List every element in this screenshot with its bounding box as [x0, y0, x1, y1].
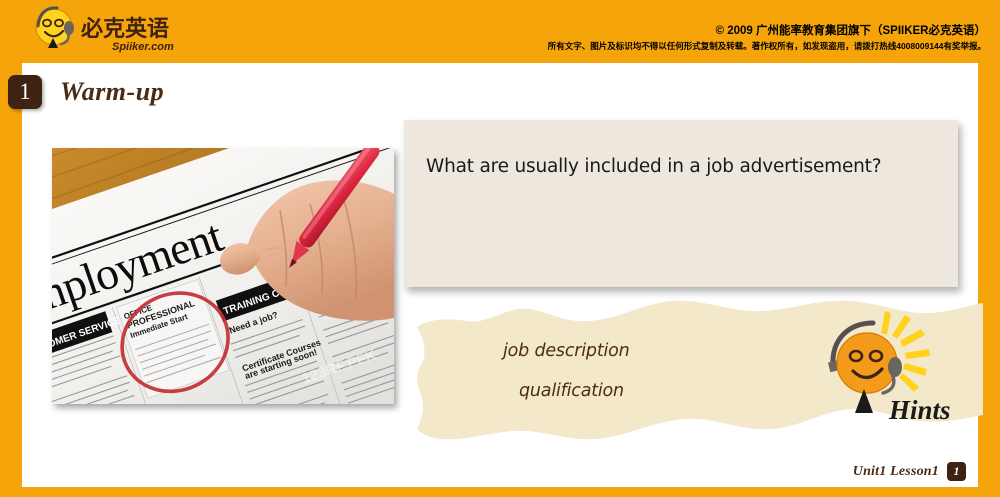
- page-title: Warm-up: [60, 77, 164, 107]
- copyright-line-2: 所有文字、图片及标识均不得以任何形式复制及转载。著作权所有，如发现盗用，请拨打热…: [466, 41, 986, 52]
- header-bar: 必克英语 Spiiker.com © 2009 广州能率教育集团旗下（SPIIK…: [0, 0, 1000, 63]
- employment-newspaper-photo: Employment: [52, 148, 394, 404]
- footer: Unit1 Lesson1 1: [853, 462, 966, 481]
- page-number-badge: 1: [947, 462, 966, 481]
- question-card: What are usually included in a job adver…: [404, 120, 958, 287]
- slide-canvas: 必克英语 Spiiker.com © 2009 广州能率教育集团旗下（SPIIK…: [0, 0, 1000, 497]
- question-text: What are usually included in a job adver…: [426, 156, 881, 177]
- hints-panel: job description qualification: [415, 297, 985, 443]
- brand-logo[interactable]: 必克英语 Spiiker.com: [24, 4, 194, 56]
- section-number-badge: 1: [8, 75, 42, 109]
- brand-en-text: Spiiker.com: [112, 41, 174, 53]
- content-panel: 1 Warm-up: [22, 63, 978, 487]
- brand-cn-text: 必克英语: [81, 16, 169, 42]
- copyright-line-1: © 2009 广州能率教育集团旗下（SPIIKER必克英语）: [466, 24, 986, 38]
- lesson-label: Unit1 Lesson1: [853, 464, 939, 480]
- hints-label: Hints: [888, 395, 951, 425]
- copyright-block: © 2009 广州能率教育集团旗下（SPIIKER必克英语） 所有文字、图片及标…: [466, 24, 986, 52]
- hints-mascot: Hints: [807, 309, 982, 431]
- section-title: 1 Warm-up: [22, 71, 164, 113]
